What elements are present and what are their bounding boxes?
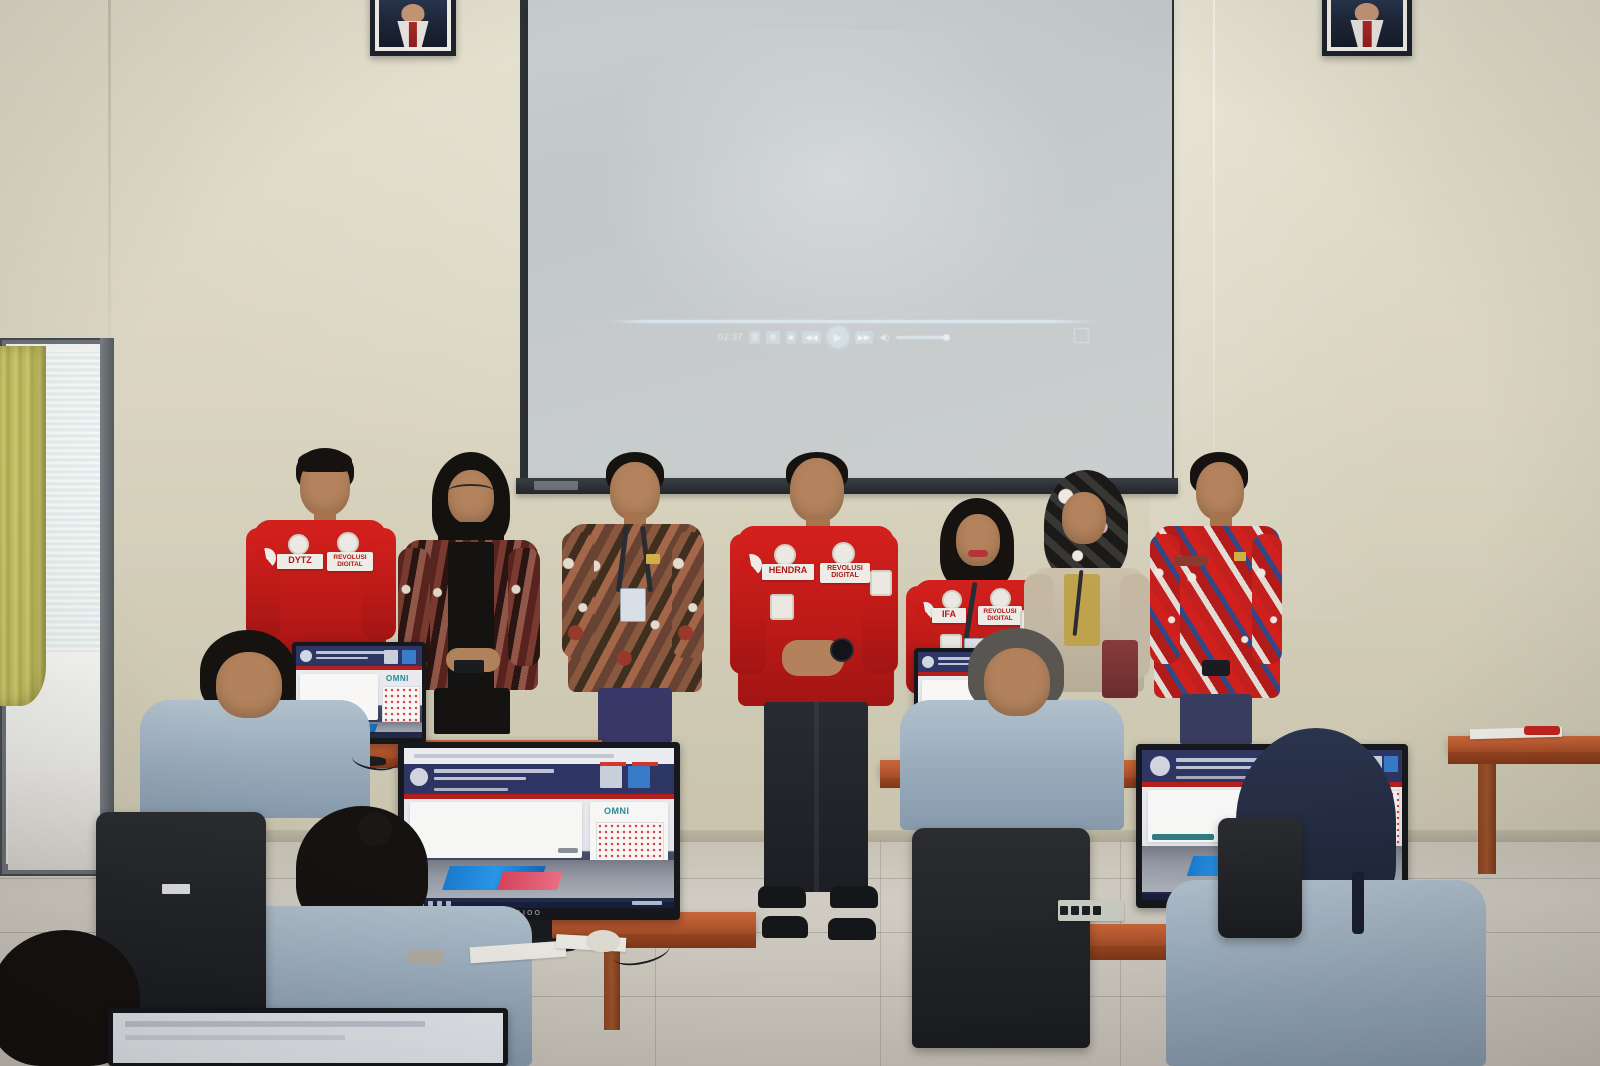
wristwatch (830, 638, 854, 662)
chest-badge-icon (770, 594, 794, 620)
volume-icon[interactable]: ◀) (879, 333, 890, 342)
standing-person-batik-brown (562, 452, 708, 742)
name-tag-ifa: IFA (932, 608, 966, 623)
play-icon[interactable]: ▶ (827, 326, 849, 348)
panel-logo: OMNI (386, 674, 409, 683)
org-patch-icon (337, 532, 359, 554)
standing-person-hendra: HENDRA REVOLUSI DIGITAL (730, 452, 900, 938)
id-badge (620, 588, 646, 622)
fullscreen-icon[interactable] (1074, 328, 1089, 343)
chair-tag (162, 884, 190, 894)
video-progress-bar[interactable] (608, 320, 1098, 323)
profile-thumb (384, 650, 398, 664)
official-portrait-right (1322, 0, 1412, 56)
browser-url-bar (414, 754, 614, 758)
site-emblem-icon (300, 650, 312, 662)
settings-icon[interactable]: ⚙ (766, 331, 779, 344)
lapel-pin-icon (1234, 552, 1246, 561)
profile-thumb (600, 766, 622, 788)
handheld-device (1202, 660, 1230, 676)
sleeve-patch-icon (870, 570, 892, 596)
avatar (402, 650, 416, 664)
site-emblem-icon (410, 768, 428, 786)
shoe (828, 918, 876, 940)
desk-far-right-edge (1448, 752, 1600, 764)
video-control-bar[interactable]: 02:37 Ѕ ⚙ ■ ◀◀ ▶ ▶▶ ◀) (718, 326, 958, 348)
org-patch-icon (832, 542, 855, 565)
forward-icon[interactable]: ▶▶ (855, 331, 873, 344)
volume-slider[interactable] (896, 336, 948, 339)
photo-scene: 02:37 Ѕ ⚙ ■ ◀◀ ▶ ▶▶ ◀) DYTZ REVOLUS (0, 0, 1600, 1066)
subtitles-icon[interactable]: Ѕ (749, 331, 760, 344)
emblem-patch-icon (774, 544, 796, 566)
desk-object (586, 930, 620, 952)
smartphone (454, 660, 484, 673)
projector-hotspot (600, 30, 1070, 360)
desk-leg (1478, 764, 1496, 874)
revolusi-digital-patch: REVOLUSI DIGITAL (327, 552, 373, 571)
lapel-pin-icon (646, 554, 660, 564)
office-chair-far-right[interactable] (1218, 818, 1302, 938)
name-tag-hendra: HENDRA (762, 564, 814, 580)
stop-icon[interactable]: ■ (786, 331, 797, 344)
office-chair-right[interactable] (912, 828, 1090, 1048)
power-strip[interactable] (1058, 900, 1124, 921)
shoe (762, 916, 808, 938)
site-emblem-icon (1150, 756, 1170, 776)
lips (968, 550, 988, 557)
eyeglasses-icon (448, 484, 494, 498)
revolusi-digital-patch: REVOLUSI DIGITAL (820, 563, 870, 583)
epaulette (408, 950, 444, 964)
emblem-patch-icon (288, 534, 309, 555)
flag-patch-icon (256, 548, 276, 568)
name-tag-dytz: DYTZ (277, 554, 323, 569)
seat-map-grid (382, 686, 420, 722)
hijab-tail (1352, 872, 1364, 934)
rewind-icon[interactable]: ◀◀ (802, 331, 820, 344)
red-marker (1524, 726, 1560, 735)
corridor-floor (8, 770, 104, 870)
panel-logo: OMNI (604, 806, 630, 816)
site-emblem-icon (922, 656, 934, 668)
hair-bun (358, 812, 392, 846)
name-badge (1174, 556, 1208, 566)
avatar (628, 766, 650, 788)
door-curtain (0, 346, 46, 706)
handbag (1102, 640, 1138, 698)
standing-person-batik-red (1150, 452, 1284, 744)
revolusi-digital-patch: REVOLUSI DIGITAL (978, 606, 1022, 625)
video-timestamp: 02:37 (718, 333, 743, 342)
avatar (1384, 756, 1398, 772)
door-jamb (100, 338, 114, 876)
emblem-patch-icon (942, 590, 962, 610)
wall-corner-seam (108, 0, 111, 340)
official-portrait-left (370, 0, 456, 56)
flag-patch-icon (740, 554, 762, 576)
